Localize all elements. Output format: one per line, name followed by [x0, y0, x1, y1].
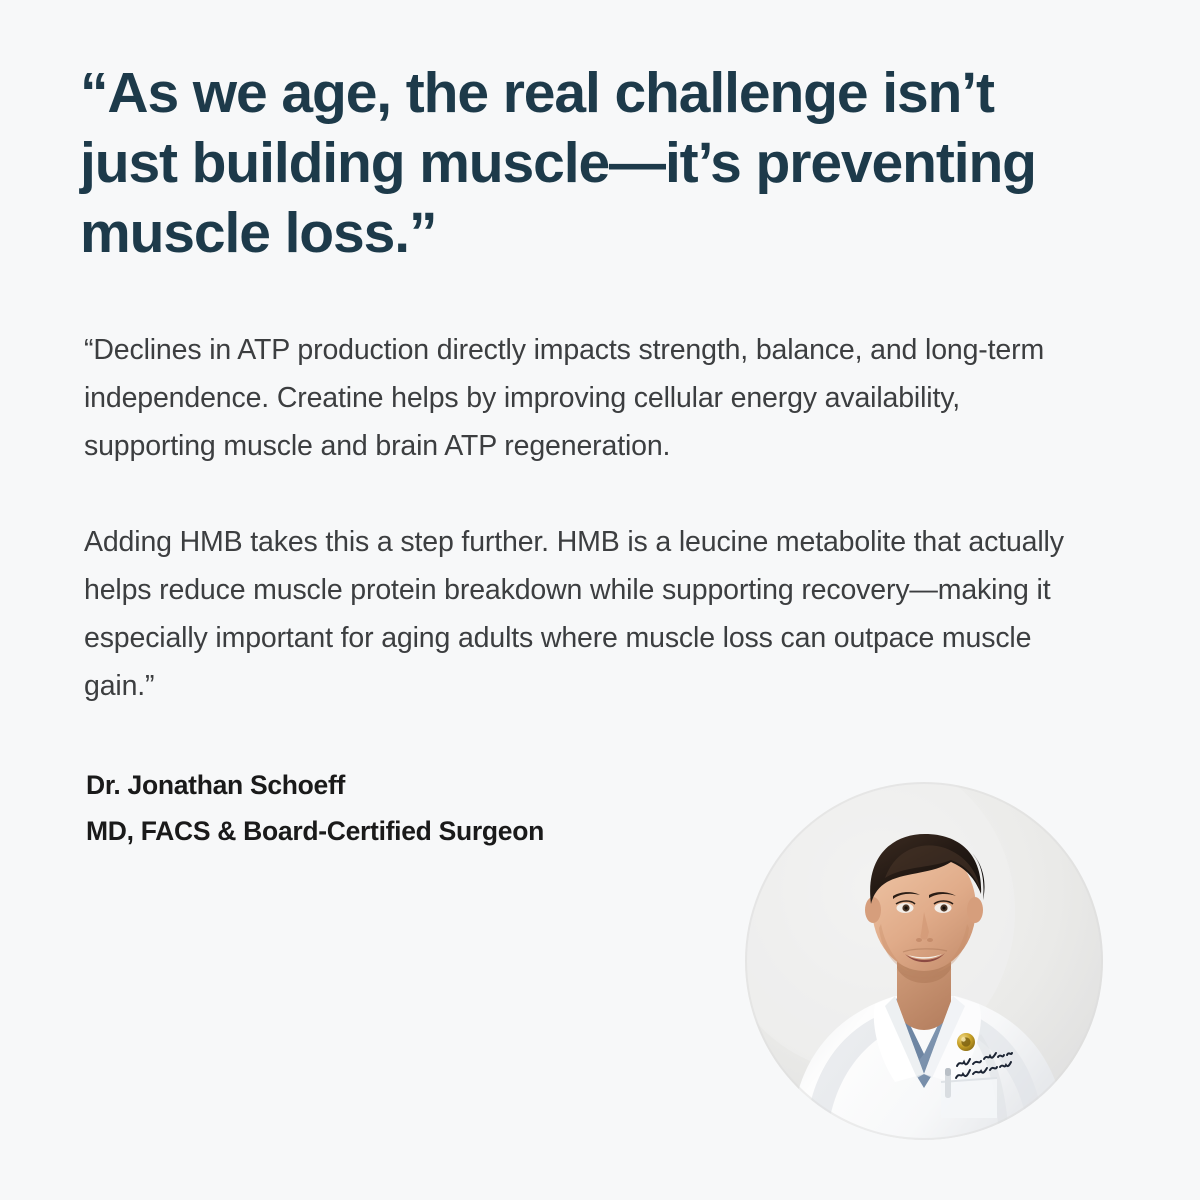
- quote-paragraph-1: “Declines in ATP production directly imp…: [84, 326, 1094, 470]
- attribution-name: Dr. Jonathan Schoeff: [86, 762, 766, 808]
- quote-paragraph-2: Adding HMB takes this a step further. HM…: [84, 518, 1094, 710]
- quote-body: “Declines in ATP production directly imp…: [84, 326, 1094, 710]
- attribution: Dr. Jonathan Schoeff MD, FACS & Board-Ce…: [86, 762, 766, 854]
- attribution-credentials: MD, FACS & Board-Certified Surgeon: [86, 808, 766, 854]
- page-title: “As we age, the real challenge isn’t jus…: [80, 58, 1080, 268]
- quote-card: “As we age, the real challenge isn’t jus…: [0, 0, 1200, 1200]
- avatar: [745, 782, 1103, 1140]
